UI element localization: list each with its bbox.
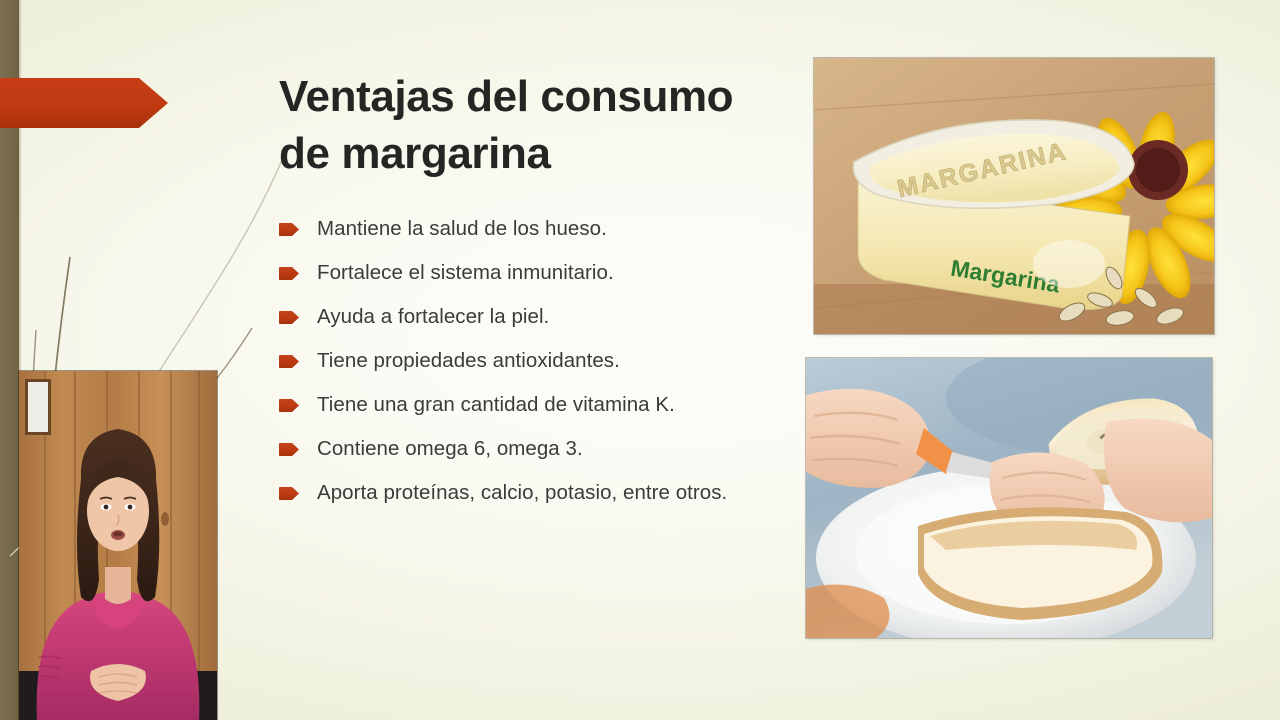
arrow-bullet-icon bbox=[279, 223, 299, 236]
list-item: Fortalece el sistema inmunitario. bbox=[279, 260, 749, 286]
title-line-2: de margarina bbox=[279, 129, 551, 178]
page-title: Ventajas del consumo de margarina bbox=[279, 68, 784, 182]
list-item-label: Contiene omega 6, omega 3. bbox=[317, 436, 583, 462]
list-item-label: Tiene una gran cantidad de vitamina K. bbox=[317, 392, 675, 418]
list-item-label: Ayuda a fortalecer la piel. bbox=[317, 304, 549, 330]
advantages-bullet-list: Mantiene la salud de los hueso. Fortalec… bbox=[279, 216, 749, 524]
arrow-bullet-icon bbox=[279, 267, 299, 280]
list-item: Ayuda a fortalecer la piel. bbox=[279, 304, 749, 330]
arrow-bullet-icon bbox=[279, 487, 299, 500]
list-item-label: Tiene propiedades antioxidantes. bbox=[317, 348, 620, 374]
spreading-margarine-photo bbox=[806, 358, 1212, 638]
margarine-tub-photo: MARGARINA Margarina bbox=[814, 58, 1214, 334]
list-item: Aporta proteínas, calcio, potasio, entre… bbox=[279, 480, 749, 506]
webcam-overlay[interactable] bbox=[19, 371, 217, 720]
arrow-bullet-icon bbox=[279, 311, 299, 324]
list-item: Contiene omega 6, omega 3. bbox=[279, 436, 749, 462]
list-item: Tiene una gran cantidad de vitamina K. bbox=[279, 392, 749, 418]
list-item-label: Mantiene la salud de los hueso. bbox=[317, 216, 607, 242]
arrow-bullet-icon bbox=[279, 443, 299, 456]
arrow-bullet-icon bbox=[279, 399, 299, 412]
red-arrow-banner bbox=[0, 78, 168, 128]
list-item-label: Fortalece el sistema inmunitario. bbox=[317, 260, 614, 286]
list-item: Mantiene la salud de los hueso. bbox=[279, 216, 749, 242]
presentation-slide: Ventajas del consumo de margarina Mantie… bbox=[0, 0, 1280, 720]
list-item: Tiene propiedades antioxidantes. bbox=[279, 348, 749, 374]
arrow-bullet-icon bbox=[279, 355, 299, 368]
title-line-1: Ventajas del consumo bbox=[279, 72, 733, 121]
list-item-label: Aporta proteínas, calcio, potasio, entre… bbox=[317, 480, 727, 506]
